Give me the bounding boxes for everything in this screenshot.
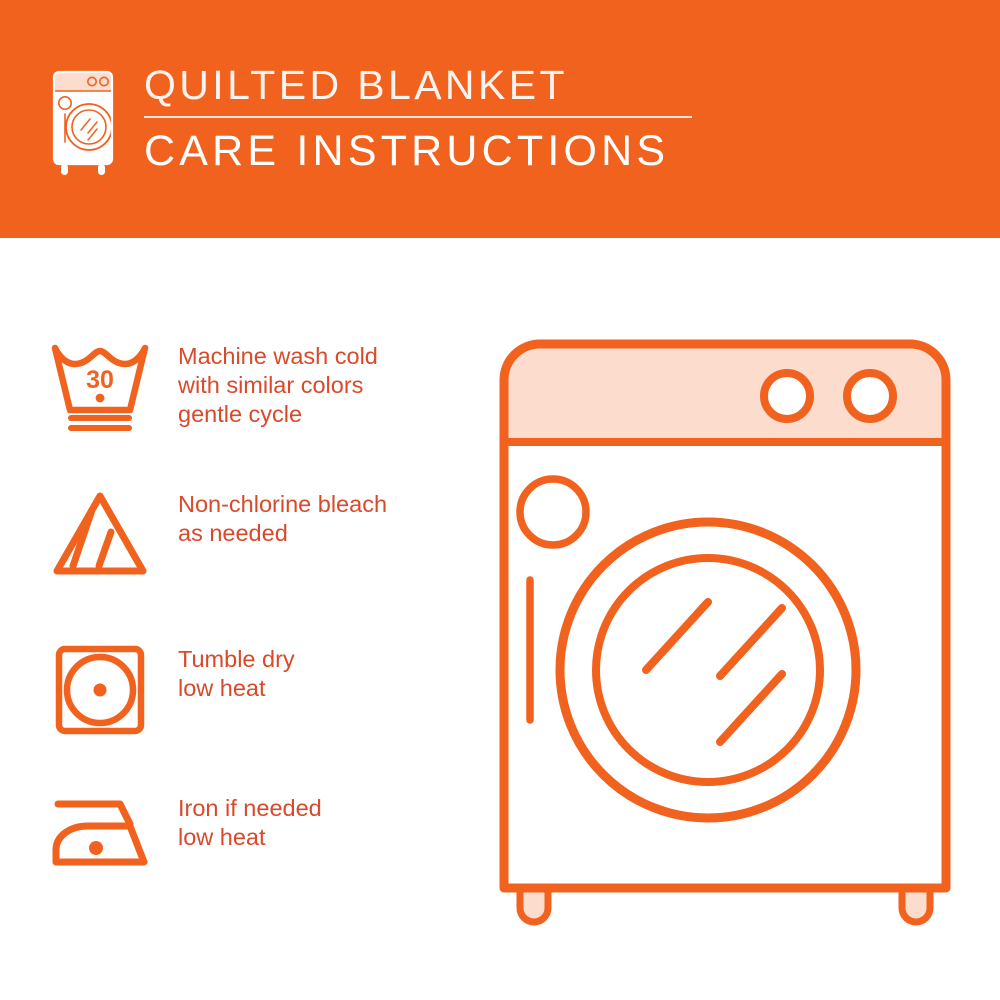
care-label-iron: Iron if needed low heat — [178, 790, 322, 852]
small-dial — [520, 479, 586, 545]
page-title-secondary: CARE INSTRUCTIONS — [144, 126, 744, 176]
care-row-bleach: Non-chlorine bleach as needed — [48, 486, 468, 582]
care-row-tumble-dry: Tumble dry low heat — [48, 641, 468, 737]
header-title-group: QUILTED BLANKET CARE INSTRUCTIONS — [144, 62, 744, 176]
tumble-dry-square-icon — [48, 641, 178, 737]
washing-machine-logo-icon — [48, 68, 118, 178]
care-label-bleach: Non-chlorine bleach as needed — [178, 486, 387, 548]
care-label-wash: Machine wash cold with similar colors ge… — [178, 338, 378, 429]
wash-tub-30-icon: 30 — [48, 338, 178, 434]
control-knob-left — [764, 373, 810, 419]
page-title-primary: QUILTED BLANKET — [144, 62, 744, 108]
control-knob-right — [847, 373, 893, 419]
care-label-tumble-dry: Tumble dry low heat — [178, 641, 295, 703]
title-divider — [144, 116, 692, 118]
door-inner-ring — [596, 558, 820, 782]
care-instructions-page: QUILTED BLANKET CARE INSTRUCTIONS 30 — [0, 0, 1000, 1000]
washing-machine-illustration — [490, 330, 960, 940]
bleach-triangle-icon — [48, 486, 178, 582]
care-row-wash: 30 Machine wash cold with similar colors… — [48, 338, 468, 434]
wash-temp-value: 30 — [86, 366, 114, 394]
iron-icon — [48, 790, 178, 880]
header-banner: QUILTED BLANKET CARE INSTRUCTIONS — [0, 0, 1000, 238]
care-instructions-list: 30 Machine wash cold with similar colors… — [0, 238, 480, 1000]
care-row-iron: Iron if needed low heat — [48, 790, 468, 880]
